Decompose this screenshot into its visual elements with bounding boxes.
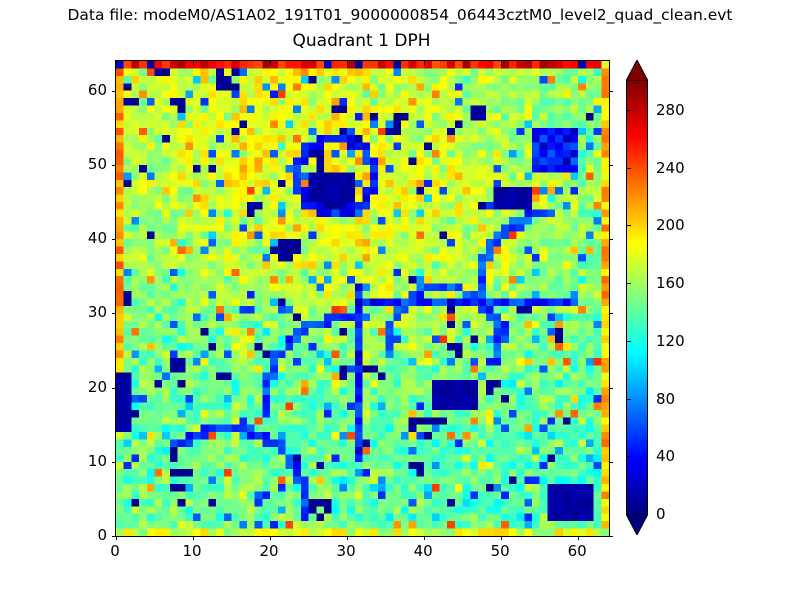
y-tick-40	[112, 239, 116, 240]
y-tick-30	[112, 313, 116, 314]
x-tick-top-60	[578, 61, 579, 65]
y-tick-60	[112, 91, 116, 92]
x-tick-top-30	[347, 61, 348, 65]
matplotlib-figure: Data file: modeM0/AS1A02_191T01_90000008…	[0, 0, 800, 600]
x-tick-label-50: 50	[491, 542, 510, 560]
colorbar-label-120: 120	[656, 332, 685, 350]
colorbar-under-arrow-icon	[626, 514, 648, 535]
y-tick-label-40: 40	[65, 229, 107, 247]
y-tick-label-20: 20	[65, 378, 107, 396]
colorbar[interactable]: 04080120160200240280	[626, 60, 648, 535]
colorbar-tick-280	[626, 110, 631, 111]
colorbar-over-arrow-icon	[626, 60, 648, 81]
x-tick-top-10	[193, 61, 194, 65]
plot-title: Quadrant 1 DPH	[115, 31, 608, 51]
y-tick-label-50: 50	[65, 155, 107, 173]
colorbar-tick-0	[626, 514, 631, 515]
y-tick-label-0: 0	[65, 526, 107, 544]
colorbar-tick-240	[626, 168, 631, 169]
x-tick-60	[578, 536, 579, 540]
y-tick-right-50	[609, 165, 613, 166]
dph-heatmap-canvas[interactable]	[116, 61, 609, 536]
x-tick-top-0	[116, 61, 117, 65]
y-tick-50	[112, 165, 116, 166]
colorbar-tick-40	[626, 456, 631, 457]
colorbar-label-80: 80	[656, 390, 675, 408]
y-tick-20	[112, 388, 116, 389]
y-tick-label-30: 30	[65, 303, 107, 321]
y-tick-label-10: 10	[65, 452, 107, 470]
y-tick-right-60	[609, 91, 613, 92]
x-tick-top-20	[270, 61, 271, 65]
colorbar-tick-120	[626, 341, 631, 342]
x-tick-label-40: 40	[414, 542, 433, 560]
colorbar-label-0: 0	[656, 505, 666, 523]
colorbar-tick-200	[626, 225, 631, 226]
x-tick-label-0: 0	[110, 542, 120, 560]
x-tick-label-60: 60	[568, 542, 587, 560]
y-tick-right-40	[609, 239, 613, 240]
colorbar-label-200: 200	[656, 216, 685, 234]
x-tick-label-20: 20	[260, 542, 279, 560]
x-tick-top-40	[424, 61, 425, 65]
data-file-suptitle: Data file: modeM0/AS1A02_191T01_90000008…	[0, 6, 800, 24]
colorbar-label-160: 160	[656, 274, 685, 292]
y-tick-label-60: 60	[65, 81, 107, 99]
colorbar-label-280: 280	[656, 101, 685, 119]
colorbar-tick-160	[626, 283, 631, 284]
colorbar-label-240: 240	[656, 159, 685, 177]
x-tick-label-10: 10	[182, 542, 201, 560]
x-tick-10	[193, 536, 194, 540]
y-tick-right-30	[609, 313, 613, 314]
x-tick-top-50	[501, 61, 502, 65]
x-tick-50	[501, 536, 502, 540]
y-tick-right-10	[609, 462, 613, 463]
x-tick-20	[270, 536, 271, 540]
heatmap-axes[interactable]	[115, 60, 610, 537]
y-tick-0	[112, 536, 116, 537]
x-tick-label-30: 30	[337, 542, 356, 560]
colorbar-label-40: 40	[656, 447, 675, 465]
y-tick-right-20	[609, 388, 613, 389]
y-tick-right-0	[609, 536, 613, 537]
x-tick-30	[347, 536, 348, 540]
colorbar-tick-80	[626, 399, 631, 400]
x-tick-40	[424, 536, 425, 540]
colorbar-gradient	[626, 81, 648, 514]
y-tick-10	[112, 462, 116, 463]
colorbar-gradient-canvas	[627, 81, 647, 514]
x-tick-0	[116, 536, 117, 540]
